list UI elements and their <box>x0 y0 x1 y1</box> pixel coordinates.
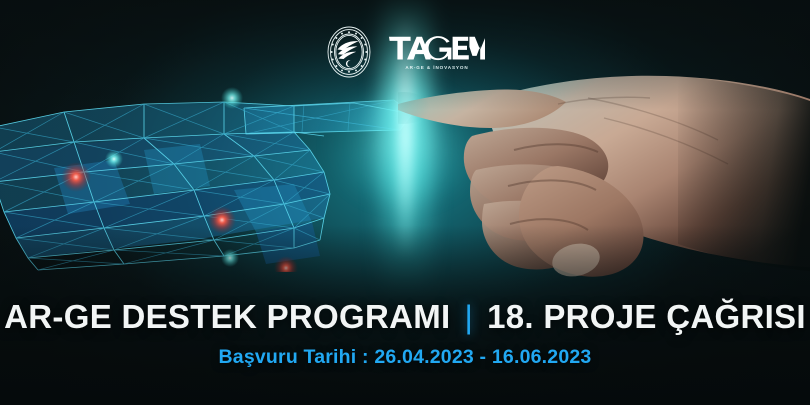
banner-text-block: AR-GE DESTEK PROGRAMI | 18. PROJE ÇAĞRIS… <box>0 300 810 368</box>
tagem-tagline: AR-GE & İNOVASYON <box>405 66 468 71</box>
tagem-wordmark-icon <box>389 33 485 62</box>
headline-right: 18. PROJE ÇAĞRISI <box>487 300 806 333</box>
headline-divider: | <box>451 301 488 333</box>
banner-headline: AR-GE DESTEK PROGRAMI | 18. PROJE ÇAĞRIS… <box>0 300 810 333</box>
ministry-of-agriculture-seal-icon <box>325 24 373 80</box>
logo-row: AR-GE & İNOVASYON <box>0 24 810 80</box>
application-date-line: Başvuru Tarihi : 26.04.2023 - 16.06.2023 <box>0 348 810 368</box>
tagem-logo: AR-GE & İNOVASYON <box>389 33 485 71</box>
mesh-node-glow <box>61 162 91 192</box>
tagem-program-banner: AR-GE & İNOVASYON AR-GE DESTEK PROGRAMI … <box>0 0 810 405</box>
mesh-node-glow <box>105 150 123 168</box>
headline-left: AR-GE DESTEK PROGRAMI <box>4 300 450 333</box>
